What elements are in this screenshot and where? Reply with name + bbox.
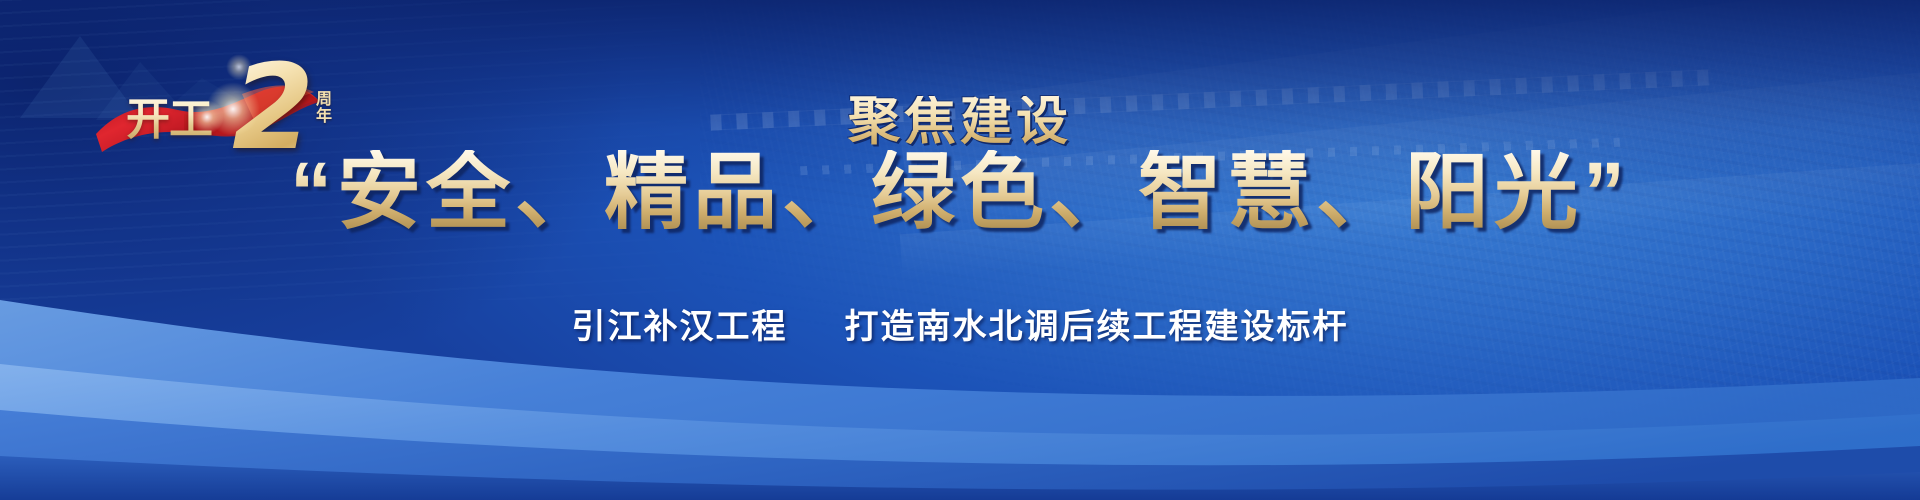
- main-slogan: “安全、精品、绿色、智慧、阳光”: [0, 150, 1920, 234]
- promotional-banner: 开工 2 周年 聚焦建设 “安全、精品、绿色、智慧、阳光” 引江补汉工程 打造南…: [0, 0, 1920, 500]
- headline-kicker-row: 聚焦建设: [0, 96, 1920, 148]
- wave-ribbons: [0, 260, 1920, 500]
- subtitle-row: 引江补汉工程 打造南水北调后续工程建设标杆: [0, 310, 1920, 344]
- subtitle-right: 打造南水北调后续工程建设标杆: [844, 308, 1348, 346]
- main-slogan-text: “安全、精品、绿色、智慧、阳光”: [290, 150, 1630, 234]
- subtitle-left: 引江补汉工程: [572, 308, 788, 346]
- headline-kicker: 聚焦建设: [848, 96, 1072, 148]
